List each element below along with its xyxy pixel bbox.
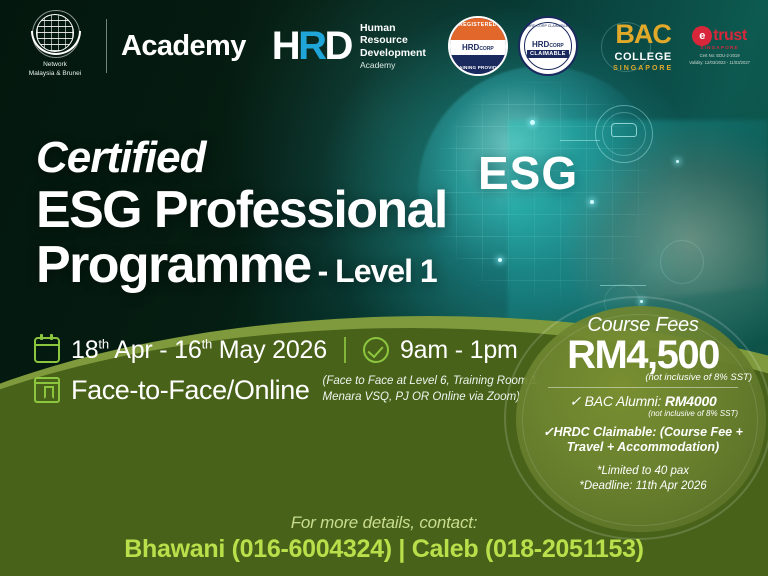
hrd-word-line2: Resource [360, 34, 426, 46]
footer-contact-block: For more details, contact: Bhawani (016-… [0, 513, 768, 564]
un-logo-label: Network Malaysia & Brunei [29, 61, 81, 78]
edutrust-dot-icon: e [692, 26, 712, 46]
edutrust-word: trust [713, 27, 747, 45]
spark-dot [590, 200, 594, 204]
hrd-r: R [298, 24, 324, 68]
logo-strip: Network Malaysia & Brunei Academy HRD Hu… [0, 0, 768, 92]
hud-connector-line [560, 140, 600, 141]
un-label-line2: Malaysia & Brunei [29, 70, 81, 78]
date-end: May 2026 [212, 336, 327, 364]
date-middle: Apr - 16 [109, 336, 202, 364]
headline-level: - Level 1 [318, 255, 437, 289]
spark-dot [498, 258, 502, 262]
bac-mark: BAC [613, 21, 673, 48]
un-global-compact-logo: Network Malaysia & Brunei [18, 14, 92, 78]
fees-alumni-sst-note: (not inclusive of 8% SST) [530, 409, 756, 418]
logo-divider [106, 19, 107, 73]
poster-root: Network Malaysia & Brunei Academy HRD Hu… [0, 0, 768, 576]
badge-corp: CORP [549, 43, 563, 49]
fees-limits: *Limited to 40 pax *Deadline: 11th Apr 2… [530, 464, 756, 495]
edutrust-wordmark: e trust [689, 26, 750, 46]
course-fees-panel: Course Fees RM4,500 (not inclusive of 8%… [508, 300, 768, 538]
fees-limit-pax: *Limited to 40 pax [530, 464, 756, 480]
hrd-word-line3: Development [360, 47, 426, 59]
spark-dot [676, 160, 679, 163]
wreath-icon [31, 31, 81, 55]
hrd-mark: HRD [272, 26, 351, 66]
edutrust-fineprint: Cert No: EDU-2-2019 Validity: 12/03/2023… [689, 53, 750, 66]
spark-dot [530, 120, 535, 125]
hrd-word-line4: Academy [360, 60, 426, 70]
contact-lead: For more details, contact: [0, 513, 768, 533]
hud-connector-line [600, 285, 646, 286]
hud-circle-icon [660, 240, 704, 284]
hrd-h: H [272, 24, 298, 68]
hrd-d: D [325, 24, 351, 68]
info-row-date-time: 18th Apr - 16th May 2026 9am - 1pm [34, 330, 540, 370]
info-row-mode: Face-to-Face/Online (Face to Face at Lev… [34, 370, 540, 410]
headline-line3: Programme - Level 1 [36, 238, 447, 293]
fees-content: Course Fees RM4,500 (not inclusive of 8%… [530, 314, 756, 495]
clock-check-icon [363, 337, 389, 363]
badge-corp: CORP [479, 46, 493, 52]
fees-amount: RM4,500 [530, 335, 756, 377]
edutrust-validity: Validity: 12/03/2023 - 11/03/2027 [689, 60, 750, 66]
hrd-word-line1: Human [360, 22, 426, 34]
badge-hrd: HRD [532, 40, 549, 49]
badge-bottom-text: TRAINING PROVIDER [450, 65, 506, 70]
date-end-ordinal: th [202, 336, 212, 351]
calendar-icon [34, 337, 60, 363]
headline-certified: Certified [36, 136, 447, 180]
hrd-corp-registered-badge: REGISTERED HRDCORP TRAINING PROVIDER [448, 16, 508, 76]
course-dates: 18th Apr - 16th May 2026 [71, 336, 327, 365]
esg-watermark: ESG [478, 146, 578, 200]
hud-car-icon [611, 123, 637, 137]
headline-block: Certified ESG Professional Programme - L… [36, 136, 447, 293]
date-start-day: 18 [71, 336, 98, 364]
hrd-corp-claimable-badge: HRD CORP CLAIMABLE HRDCORP CLAIMABLE [518, 16, 578, 76]
fees-alumni-label: ✓ BAC Alumni: [569, 393, 665, 409]
fees-alumni-amount: RM4000 [665, 393, 717, 409]
info-block: 18th Apr - 16th May 2026 9am - 1pm Face-… [34, 330, 540, 410]
badge-top-text: REGISTERED [450, 22, 506, 28]
contact-names: Bhawani (016-6004324) | Caleb (018-20511… [0, 535, 768, 564]
edutrust-country: SINGAPORE [689, 45, 750, 50]
edutrust-badge: e trust SINGAPORE Cert No: EDU-2-2019 Va… [689, 26, 750, 66]
fees-hrdc-claimable: ✓HRDC Claimable: (Course Fee + Travel + … [530, 425, 756, 456]
globe-icon [36, 14, 74, 52]
badge-claimable-bar: CLAIMABLE [527, 50, 569, 58]
hrd-academy-logo: HRD Human Resource Development Academy [272, 22, 426, 70]
headline-programme: Programme [36, 238, 311, 293]
headline-line2: ESG Professional [36, 183, 447, 238]
academy-wordmark: Academy [121, 30, 246, 63]
bac-college-logo: BAC COLLEGE SINGAPORE [613, 21, 673, 72]
badge-mid-text: HRDCORP [520, 40, 576, 49]
bac-country-label: SINGAPORE [613, 65, 673, 72]
badge-arc-text: HRD CORP CLAIMABLE [520, 24, 576, 28]
bac-college-label: COLLEGE [613, 51, 673, 63]
date-start-ordinal: th [98, 336, 108, 351]
hrd-wordmark: Human Resource Development Academy [360, 22, 426, 70]
course-mode: Face-to-Face/Online [71, 375, 310, 406]
info-divider [344, 337, 346, 363]
course-time: 9am - 1pm [400, 336, 518, 365]
badge-hrd: HRD [462, 43, 479, 52]
un-label-line1: Network [29, 61, 81, 69]
fees-deadline: *Deadline: 11th Apr 2026 [530, 479, 756, 495]
presentation-board-icon [34, 377, 60, 403]
fees-alumni-row: ✓ BAC Alumni: RM4000 [530, 393, 756, 410]
badge-mid-text: HRDCORP [450, 43, 506, 52]
fees-separator [548, 387, 738, 388]
